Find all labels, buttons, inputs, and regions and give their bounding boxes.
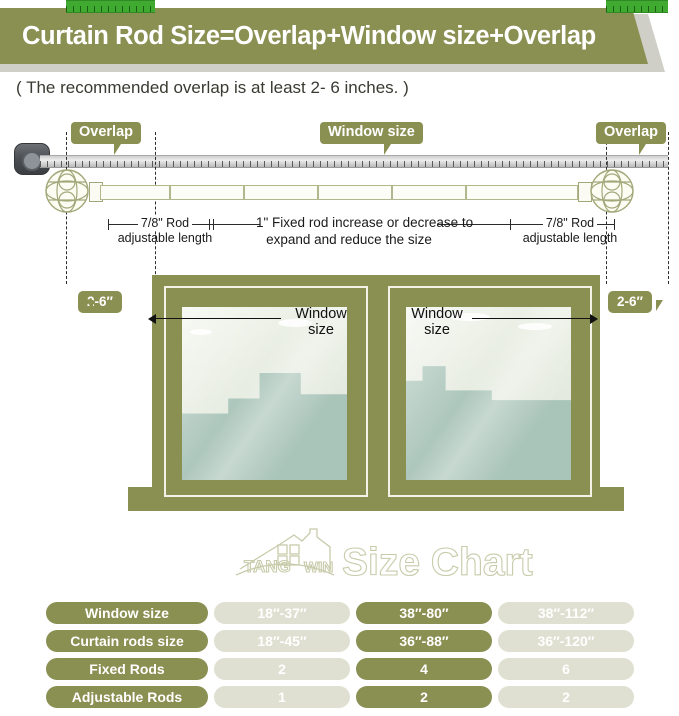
tape-ticks xyxy=(40,156,668,167)
overlap-badge-right: 2-6″ xyxy=(608,291,652,313)
tape-measure-strip xyxy=(40,155,668,168)
callout-overlap-left-label: Overlap xyxy=(79,124,133,140)
callout-tail-icon xyxy=(86,300,93,311)
tape-overlap-left-highlight xyxy=(66,0,155,13)
rod-segment xyxy=(244,185,318,200)
caption-right-line1: 7/8" Rod xyxy=(543,216,597,231)
row-header-curtain-rods-size: Curtain rods size xyxy=(46,630,208,652)
guide-line-overlap-left-inner xyxy=(155,132,156,284)
table-row: Window size 18″-37″ 38″-80″ 38″-112″ xyxy=(46,602,634,624)
window-size-arrow-left xyxy=(156,318,281,319)
rod-segment xyxy=(318,185,392,200)
row-header-window-size: Window size xyxy=(46,602,208,624)
cell-curtain-rods-size-col3: 36″-120″ xyxy=(498,630,634,652)
size-chart-heading-text: Size Chart xyxy=(342,541,533,584)
callout-tail-icon xyxy=(384,144,391,155)
arrowhead-left-icon xyxy=(148,314,156,324)
cloud-icon xyxy=(518,323,552,330)
cell-adjustable-rods-col3: 2 xyxy=(498,686,634,708)
banner-body: Curtain Rod Size=Overlap+Window size+Ove… xyxy=(0,8,648,64)
page-title: Curtain Rod Size=Overlap+Window size+Ove… xyxy=(0,22,596,51)
callout-window-size-label: Window size xyxy=(328,124,415,140)
header-banner: Curtain Rod Size=Overlap+Window size+Ove… xyxy=(0,8,679,68)
cell-curtain-rods-size-col1: 18″-45″ xyxy=(214,630,350,652)
callout-overlap-left: Overlap xyxy=(71,122,141,144)
callout-tail-icon xyxy=(639,144,646,155)
cell-fixed-rods-col2: 4 xyxy=(356,658,492,680)
logo-brand-right-text: WIN xyxy=(304,559,333,576)
cell-fixed-rods-col3: 6 xyxy=(498,658,634,680)
caption-center-line1: 1" Fixed rod increase or decrease to xyxy=(256,215,473,230)
rod-segment xyxy=(170,185,244,200)
caption-right-line2: adjustable length xyxy=(523,231,618,245)
cell-fixed-rods-col1: 2 xyxy=(214,658,350,680)
cell-window-size-col2: 38″-80″ xyxy=(356,602,492,624)
leader-line-center-left xyxy=(214,224,260,225)
lattice-ball-finial-icon-left xyxy=(44,168,90,214)
cell-window-size-col3: 38″-112″ xyxy=(498,602,634,624)
lattice-ball-finial-icon-right xyxy=(589,168,635,214)
subtitle: ( The recommended overlap is at least 2-… xyxy=(16,78,409,98)
table-row: Curtain rods size 18″-45″ 36″-88″ 36″-12… xyxy=(46,630,634,652)
rod-segment xyxy=(100,185,170,200)
callout-window-size: Window size xyxy=(320,122,423,144)
overlap-badge-left: 2-6″ xyxy=(78,291,122,313)
table-row: Fixed Rods 2 4 6 xyxy=(46,658,634,680)
logo-and-heading: TANG WIN Size Chart xyxy=(222,527,552,589)
window-size-arrow-right xyxy=(472,318,590,319)
arrowhead-right-icon xyxy=(590,314,598,324)
size-chart-table: Window size 18″-37″ 38″-80″ 38″-112″ Cur… xyxy=(46,602,634,714)
callout-tail-icon xyxy=(656,300,663,311)
cell-adjustable-rods-col2: 2 xyxy=(356,686,492,708)
cell-curtain-rods-size-col2: 36″-88″ xyxy=(356,630,492,652)
caption-left-line2: adjustable length xyxy=(118,231,213,245)
cell-window-size-col1: 18″-37″ xyxy=(214,602,350,624)
tape-ticks-green-right xyxy=(606,1,668,12)
tape-measure-hub-icon xyxy=(22,151,42,171)
table-row: Adjustable Rods 1 2 2 xyxy=(46,686,634,708)
cloud-icon xyxy=(190,329,212,335)
guide-line-overlap-right-outer xyxy=(668,132,669,284)
logo-brand-left-text: TANG xyxy=(244,557,291,576)
tape-overlap-right-highlight xyxy=(606,0,668,13)
caption-left-line1: 7/8" Rod xyxy=(138,216,192,231)
callout-overlap-right: Overlap xyxy=(596,122,666,144)
caption-center-line2: expand and reduce the size xyxy=(266,232,432,247)
callout-tail-icon xyxy=(114,144,121,155)
row-header-adjustable-rods: Adjustable Rods xyxy=(46,686,208,708)
rod-segment xyxy=(392,185,466,200)
row-header-fixed-rods: Fixed Rods xyxy=(46,658,208,680)
cell-adjustable-rods-col1: 1 xyxy=(214,686,350,708)
rod-segment xyxy=(466,185,578,200)
window-size-label-right: Window size xyxy=(398,306,476,338)
window-size-label-left: Window size xyxy=(282,306,360,338)
tape-ticks-green-left xyxy=(66,1,155,12)
callout-overlap-right-label: Overlap xyxy=(604,124,658,140)
